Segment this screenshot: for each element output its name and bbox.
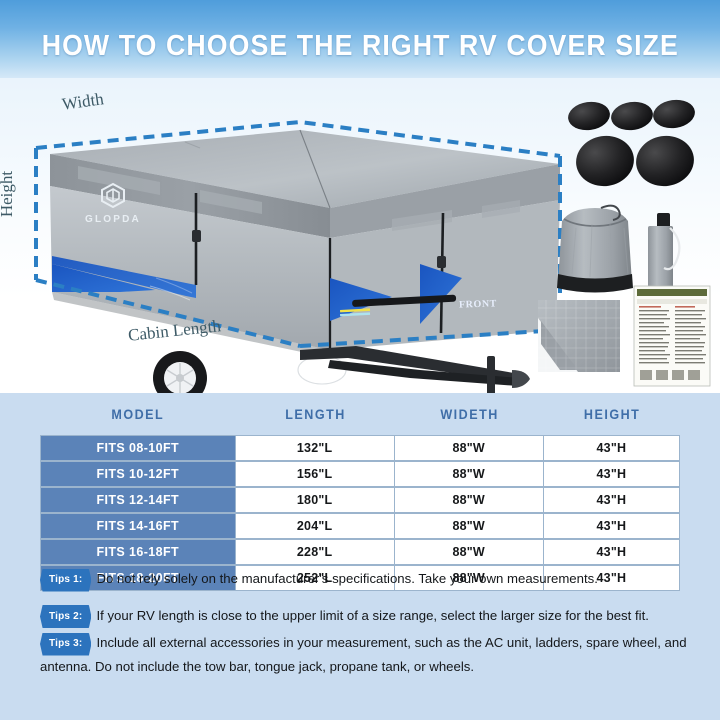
cell-height: 43"H: [544, 539, 680, 565]
cell-length: 156"L: [236, 461, 395, 487]
accessory-oval-covers: [566, 97, 697, 190]
cell-height: 43"H: [544, 487, 680, 513]
tip-item: Tips 1:Do not rely solely on the manufac…: [40, 569, 688, 593]
cell-model: FITS 10-12FT: [40, 461, 236, 487]
accessory-fabric-swatch: [538, 300, 620, 372]
cell-width: 88"W: [395, 461, 544, 487]
table-row: FITS 14-16FT 204"L 88"W 43"H: [40, 513, 680, 539]
rv-cover-size-infographic: HOW TO CHOOSE THE RIGHT RV COVER SIZE: [0, 0, 720, 720]
accessory-instruction-sheet: [634, 286, 710, 386]
cell-length: 132"L: [236, 435, 395, 461]
accessory-storage-bag: [557, 206, 633, 293]
cell-width: 88"W: [395, 513, 544, 539]
tip-badge: Tips 1:: [40, 569, 91, 592]
cell-model: FITS 12-14FT: [40, 487, 236, 513]
tip-item: Tips 3:Include all external accessories …: [40, 633, 688, 676]
column-header-model: MODEL: [47, 404, 229, 435]
table-row: FITS 10-12FT 156"L 88"W 43"H: [40, 461, 680, 487]
accessory-strap-pouch: [648, 213, 679, 289]
tow-hitch-frame: [300, 346, 530, 393]
rv-illustration: [0, 78, 720, 393]
cell-width: 88"W: [395, 539, 544, 565]
cell-height: 43"H: [544, 461, 680, 487]
column-header-height: HEIGHT: [549, 404, 676, 435]
page-title: HOW TO CHOOSE THE RIGHT RV COVER SIZE: [41, 30, 678, 63]
table-row: FITS 16-18FT 228"L 88"W 43"H: [40, 539, 680, 565]
tip-text: Include all external accessories in your…: [40, 635, 687, 674]
cell-height: 43"H: [544, 513, 680, 539]
cell-length: 180"L: [236, 487, 395, 513]
column-header-width: WIDETH: [400, 404, 539, 435]
specs-and-tips-panel: MODEL LENGTH WIDETH HEIGHT FITS 08-10FT …: [0, 393, 720, 720]
brand-logo: GLOPDA: [78, 182, 148, 225]
size-chart-table: MODEL LENGTH WIDETH HEIGHT FITS 08-10FT …: [40, 404, 680, 591]
cell-width: 88"W: [395, 435, 544, 461]
column-header-length: LENGTH: [241, 404, 389, 435]
tip-text: If your RV length is close to the upper …: [96, 608, 648, 623]
cell-length: 228"L: [236, 539, 395, 565]
cell-model: FITS 08-10FT: [40, 435, 236, 461]
front-marker-label: FRONT: [459, 298, 497, 310]
brand-logo-text: GLOPDA: [78, 214, 148, 225]
tip-badge: Tips 3:: [40, 633, 91, 656]
table-header-row: MODEL LENGTH WIDETH HEIGHT: [40, 404, 680, 435]
tip-text: Do not rely solely on the manufacturer's…: [96, 571, 597, 586]
dimension-label-height: Height: [0, 171, 17, 217]
cell-width: 88"W: [395, 487, 544, 513]
cell-height: 43"H: [544, 435, 680, 461]
cell-model: FITS 16-18FT: [40, 539, 236, 565]
table-row: FITS 12-14FT 180"L 88"W 43"H: [40, 487, 680, 513]
rv-cover-graphic: [50, 130, 560, 358]
product-diagram-area: Width Height Cabin Length GLOPDA FRONT: [0, 78, 720, 393]
tips-section: Tips 1:Do not rely solely on the manufac…: [40, 569, 688, 676]
glopda-hexagon-icon: [98, 182, 128, 208]
table-row: FITS 08-10FT 132"L 88"W 43"H: [40, 435, 680, 461]
cell-model: FITS 14-16FT: [40, 513, 236, 539]
tip-badge: Tips 2:: [40, 605, 91, 628]
tip-item: Tips 2:If your RV length is close to the…: [40, 606, 688, 630]
cell-length: 204"L: [236, 513, 395, 539]
